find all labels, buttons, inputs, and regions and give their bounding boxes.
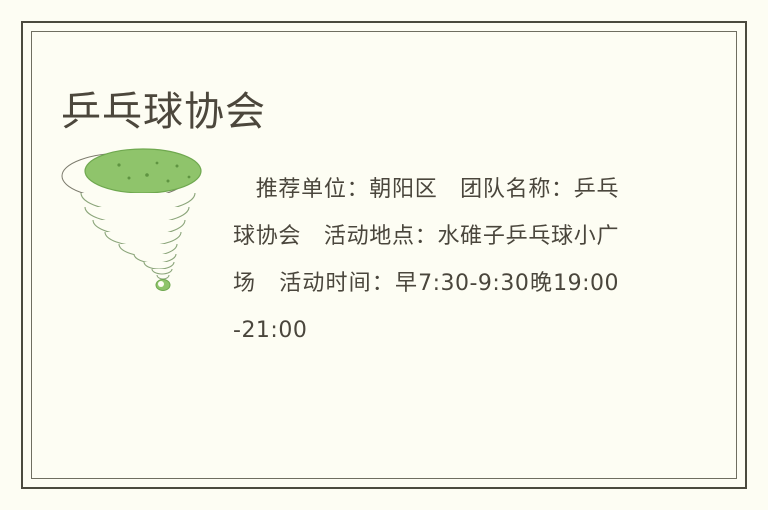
- activity-details-line: 推荐单位：朝阳区 团队名称：乒乓球协会 活动地点：水碓子乒乓球小广场 活动时间：…: [233, 177, 619, 343]
- page-title: 乒乓球协会: [61, 89, 266, 135]
- green-tornado-illustration: [55, 135, 225, 300]
- content-card: 乒乓球协会: [21, 21, 747, 489]
- activity-details-text: 推荐单位：朝阳区 团队名称：乒乓球协会 活动地点：水碓子乒乓球小广场 活动时间：…: [233, 166, 619, 354]
